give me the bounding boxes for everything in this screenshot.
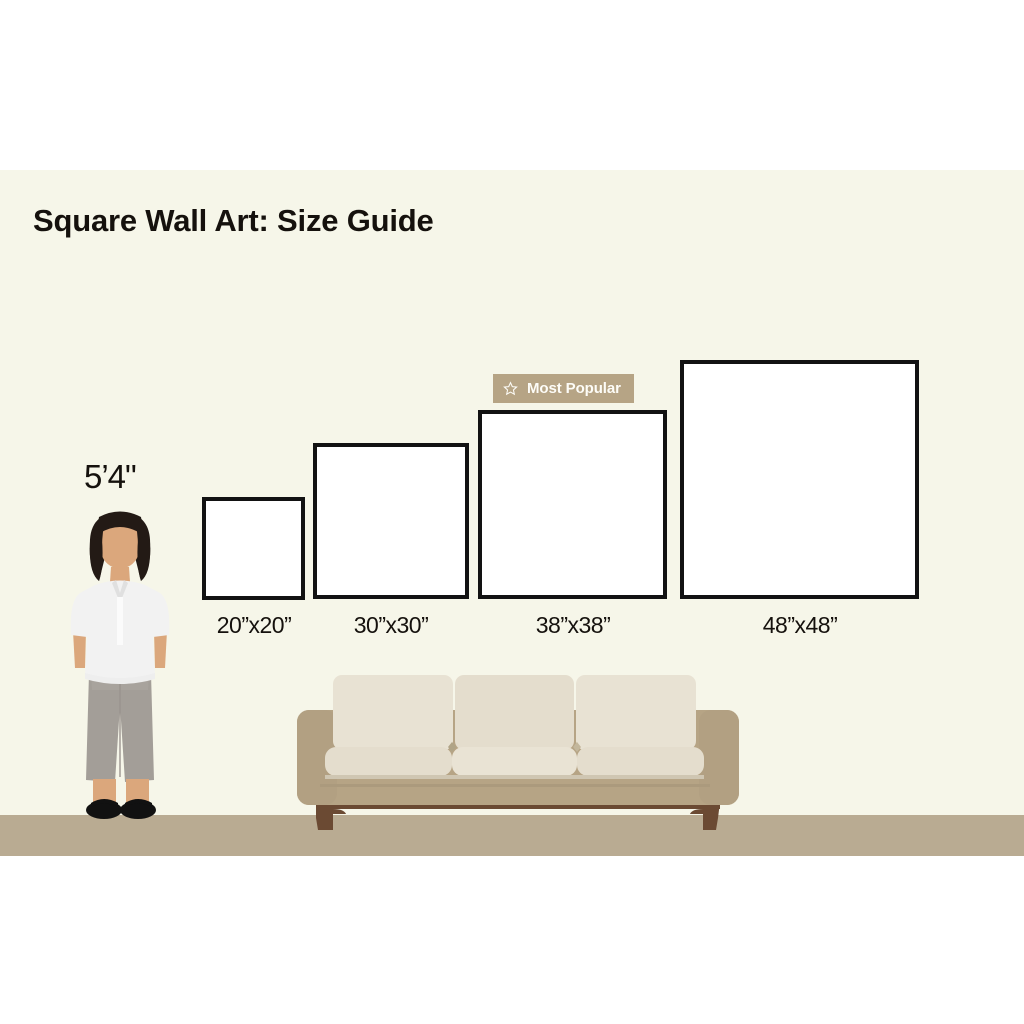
woman-figure <box>55 505 185 835</box>
most-popular-badge[interactable]: Most Popular <box>493 374 634 403</box>
three-seat-sofa <box>288 662 748 837</box>
art-frame-30[interactable] <box>313 443 469 599</box>
art-frame-label-30: 30”x30” <box>336 612 446 639</box>
shoes <box>86 799 156 819</box>
sofa-legs <box>316 802 720 830</box>
blouse <box>71 580 170 684</box>
sofa-back-cushions <box>333 675 696 750</box>
art-frame-label-20: 20”x20” <box>199 612 309 639</box>
seat-shadow-line <box>320 784 710 787</box>
art-frame-label-38: 38”x38” <box>518 612 628 639</box>
page-title: Square Wall Art: Size Guide <box>33 203 434 239</box>
person-height-label: 5’4" <box>84 458 136 496</box>
star-outline-icon <box>503 381 518 396</box>
size-guide-infographic: Square Wall Art: Size Guide 5’4" 20”x20”… <box>0 0 1024 1024</box>
most-popular-label: Most Popular <box>527 380 621 397</box>
art-frame-20[interactable] <box>202 497 305 600</box>
art-frame-48[interactable] <box>680 360 919 599</box>
art-frame-label-48: 48”x48” <box>745 612 855 639</box>
art-frame-38[interactable] <box>478 410 667 599</box>
sofa-seat-cushions <box>325 747 704 779</box>
trousers <box>86 673 154 782</box>
